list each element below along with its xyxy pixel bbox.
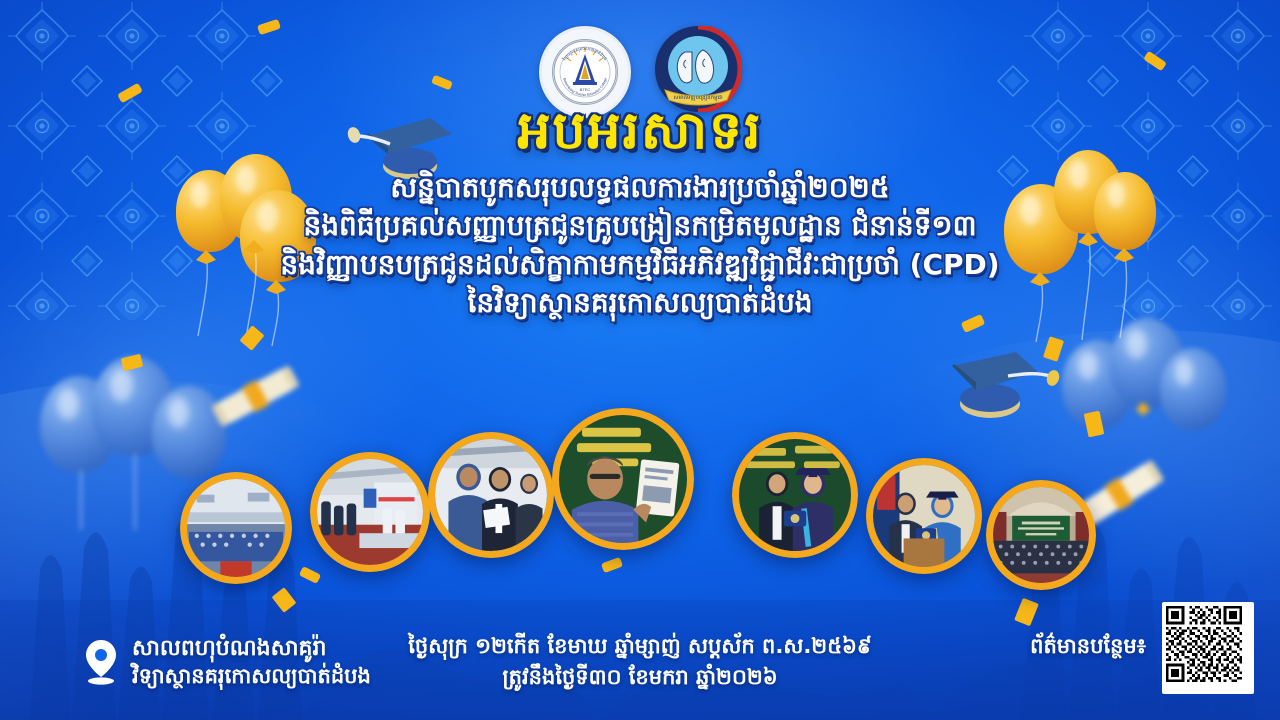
qr-code-icon[interactable] (1162, 602, 1254, 694)
photo-graduate-receiving-diploma-1 (732, 432, 858, 558)
photo-graduate-receiving-diploma-2 (866, 458, 982, 574)
photo-exhibition-booth (310, 452, 430, 572)
photo-officials-reviewing-document (428, 432, 554, 558)
page-title: អបអរសាទរ (0, 104, 1280, 159)
confetti-piece (239, 325, 264, 351)
photo-ceremony-audience (986, 480, 1096, 590)
subtitle-block: សន្និបាតបូកសរុបលទ្ធផលការងារប្រចាំឆ្នាំ២០… (0, 169, 1280, 324)
headline-block: អបអរសាទរ សន្និបាតបូកសរុបលទ្ធផលការងារប្រច… (0, 104, 1280, 323)
subtitle-line-3: និងវិញ្ញាបនបត្រជូនដល់សិក្ខាកាមកម្មវិធីអភ… (0, 246, 1280, 285)
teacher-association-emblem-icon: សមាគមគ្រូបង្រៀនកម្ពុជា (655, 26, 741, 112)
confetti-piece (1043, 336, 1064, 362)
photo-assembly-hall (180, 472, 292, 584)
photo-speaker-with-book (552, 408, 694, 550)
event-banner: BTEC វិទ្យាស្ថានគរុកោសល្យបាត់ដំបង Battam… (0, 0, 1280, 720)
photo-gallery (0, 398, 1280, 588)
subtitle-line-2: និងពិធីប្រគល់សញ្ញាបត្រជូនគ្រូបង្រៀនកម្រិ… (0, 207, 1280, 246)
footer: សាលពហុបំណងសាគូរ៉ា វិទ្យាស្ថានគរុកោសល្យបា… (0, 600, 1280, 720)
svg-text:Battambang Teacher Education C: Battambang Teacher Education College (562, 77, 607, 97)
subtitle-line-4: នៃវិទ្យាស្ថានគរុកោសល្យបាត់ដំបង (0, 284, 1280, 323)
confetti-piece (121, 354, 144, 371)
subtitle-line-1: សន្និបាតបូកសរុបលទ្ធផលការងារប្រចាំឆ្នាំ២០… (0, 169, 1280, 208)
more-info-label: ព័ត៌មានបន្ថែម៖ (1030, 633, 1146, 664)
more-info-block[interactable]: ព័ត៌មានបន្ថែម៖ (1030, 602, 1254, 694)
svg-text:វិទ្យាស្ថានគរុកោសល្យបាត់ដំបង: វិទ្យាស្ថានគរុកោសល្យបាត់ដំបង (561, 46, 608, 62)
